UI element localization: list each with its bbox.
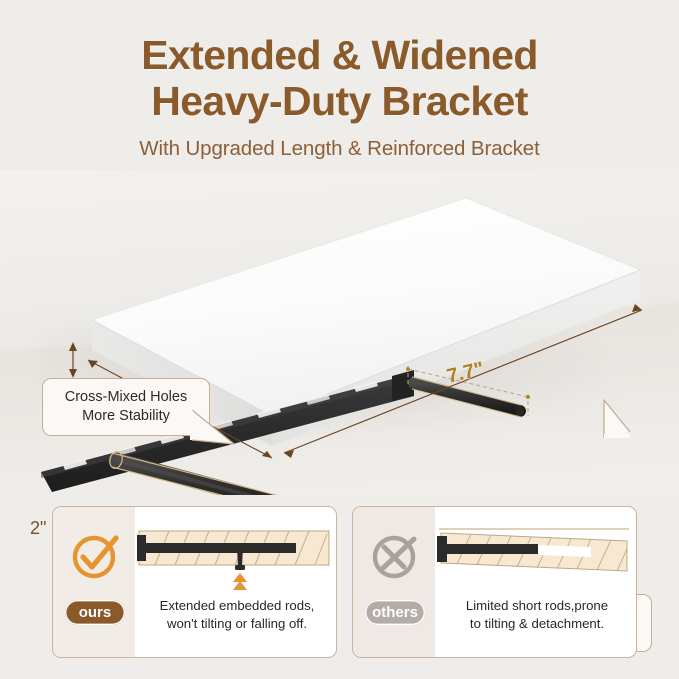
caption-ours: Extended embedded rods, won't tilting or… — [139, 597, 335, 633]
callout-2-tail — [586, 398, 634, 440]
badge-ours: ours — [65, 600, 125, 625]
embedded-rod — [144, 543, 296, 553]
callout-1-line-1: Cross-Mixed Holes — [54, 388, 198, 407]
caption-ours-line-2: won't tilting or falling off. — [139, 615, 335, 633]
caption-ours-line-1: Extended embedded rods, — [139, 597, 335, 615]
subtitle: With Upgraded Length & Reinforced Bracke… — [0, 137, 679, 161]
comparison-panel-ours: ours — [52, 506, 337, 658]
comparison-section: ours — [0, 500, 679, 665]
callout-1-line-2: More Stability — [54, 407, 198, 426]
arrowhead-2-top — [69, 342, 77, 351]
callout-cross-mixed-holes: Cross-Mixed Holes More Stability — [42, 378, 210, 436]
caption-others-line-1: Limited short rods,prone — [439, 597, 635, 615]
badge-others: others — [365, 600, 425, 625]
caption-others-line-2: to tilting & detachment. — [439, 615, 635, 633]
hero-product-scene: Cross-Mixed Holes More Stability Increas… — [0, 170, 679, 495]
short-rod — [445, 544, 538, 554]
comparison-panel-others: others — [352, 506, 637, 658]
callout-1-tail — [190, 408, 240, 450]
header: Extended & Widened Heavy-Duty Bracket Wi… — [0, 32, 679, 161]
empty-cavity — [538, 545, 591, 557]
shelf-illustration — [0, 170, 679, 495]
support-peg — [237, 547, 243, 567]
check-circle-icon — [69, 529, 123, 583]
arrowhead-12-bottom — [262, 451, 272, 458]
upward-arrows — [233, 573, 247, 590]
caption-others: Limited short rods,prone to tilting & de… — [439, 597, 635, 633]
title-line-2: Heavy-Duty Bracket — [0, 78, 679, 124]
arrowhead-2-bottom — [69, 369, 77, 378]
figure-extended-rod — [131, 511, 336, 597]
x-circle-icon — [369, 529, 423, 583]
figure-short-rod — [431, 511, 636, 597]
title-line-1: Extended & Widened — [0, 32, 679, 78]
product-infographic: Extended & Widened Heavy-Duty Bracket Wi… — [0, 0, 679, 679]
